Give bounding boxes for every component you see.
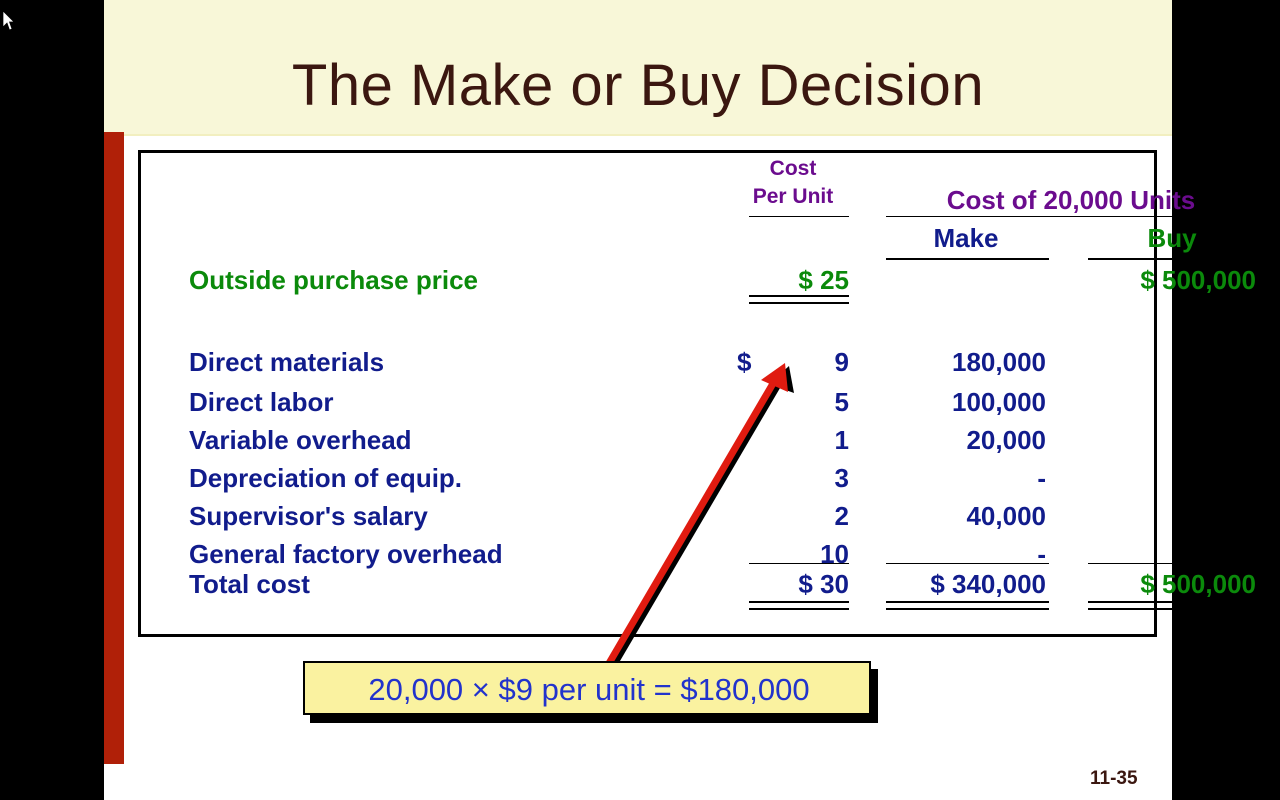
rule-above-total-per-unit — [749, 563, 849, 564]
header-make: Make — [886, 223, 1046, 254]
row-depreciation-make: - — [886, 463, 1094, 494]
header-cost-of-20000-units: Cost of 20,000 Units — [886, 185, 1256, 216]
row-total-cost-make: $ 340,000 — [886, 569, 1046, 600]
row-outside-purchase-price-per-unit: $ 25 — [737, 265, 849, 296]
double-rule-total-make — [886, 601, 1049, 610]
header-cost-line1: Cost — [737, 157, 849, 181]
callout-text: 20,000 × $9 per unit = $180,000 — [305, 672, 873, 708]
row-direct-materials-label: Direct materials — [189, 347, 384, 378]
header-buy: Buy — [1088, 223, 1256, 254]
row-direct-labor-label: Direct labor — [189, 387, 334, 418]
row-variable-overhead-make: 20,000 — [886, 425, 1046, 456]
row-general-factory-overhead-make: - — [886, 539, 1094, 570]
row-general-factory-overhead-per-unit: 10 — [737, 539, 849, 570]
row-total-cost-label: Total cost — [189, 569, 310, 600]
row-variable-overhead-label: Variable overhead — [189, 425, 412, 456]
rule-under-cost-of-units — [886, 216, 1256, 217]
rule-under-make — [886, 258, 1049, 260]
title-banner: The Make or Buy Decision — [104, 0, 1172, 136]
left-accent-bar — [104, 132, 124, 764]
row-direct-materials-per-unit: 9 — [737, 347, 849, 378]
row-supervisor-salary-make: 40,000 — [886, 501, 1046, 532]
mouse-cursor-icon — [2, 10, 16, 32]
row-general-factory-overhead-label: General factory overhead — [189, 539, 503, 570]
slide-root: The Make or Buy Decision Cost Per Unit C… — [0, 0, 1280, 800]
row-total-cost-per-unit: $ 30 — [737, 569, 849, 600]
double-rule-outside-per-unit — [749, 295, 849, 304]
row-supervisor-salary-label: Supervisor's salary — [189, 501, 428, 532]
double-rule-total-buy — [1088, 601, 1256, 610]
row-depreciation-per-unit: 3 — [737, 463, 849, 494]
row-direct-labor-make: 100,000 — [886, 387, 1046, 418]
row-variable-overhead-per-unit: 1 — [737, 425, 849, 456]
row-outside-purchase-price-buy: $ 500,000 — [1088, 265, 1256, 296]
row-total-cost-buy: $ 500,000 — [1088, 569, 1256, 600]
callout-box: 20,000 × $9 per unit = $180,000 — [303, 661, 871, 715]
page-number: 11-35 — [1090, 768, 1138, 790]
rule-under-buy — [1088, 258, 1256, 260]
rule-above-total-buy — [1088, 563, 1256, 564]
rule-above-total-make — [886, 563, 1049, 564]
double-rule-total-per-unit — [749, 601, 849, 610]
row-direct-labor-per-unit: 5 — [737, 387, 849, 418]
row-depreciation-label: Depreciation of equip. — [189, 463, 462, 494]
row-direct-materials-make: 180,000 — [886, 347, 1046, 378]
header-cost-per-unit: Per Unit — [737, 185, 849, 209]
rule-under-per-unit — [749, 216, 849, 217]
cost-comparison-table: Cost Per Unit Cost of 20,000 Units Make … — [138, 150, 1157, 637]
row-supervisor-salary-per-unit: 2 — [737, 501, 849, 532]
row-outside-purchase-price-label: Outside purchase price — [189, 265, 478, 296]
page-title: The Make or Buy Decision — [104, 52, 1172, 119]
